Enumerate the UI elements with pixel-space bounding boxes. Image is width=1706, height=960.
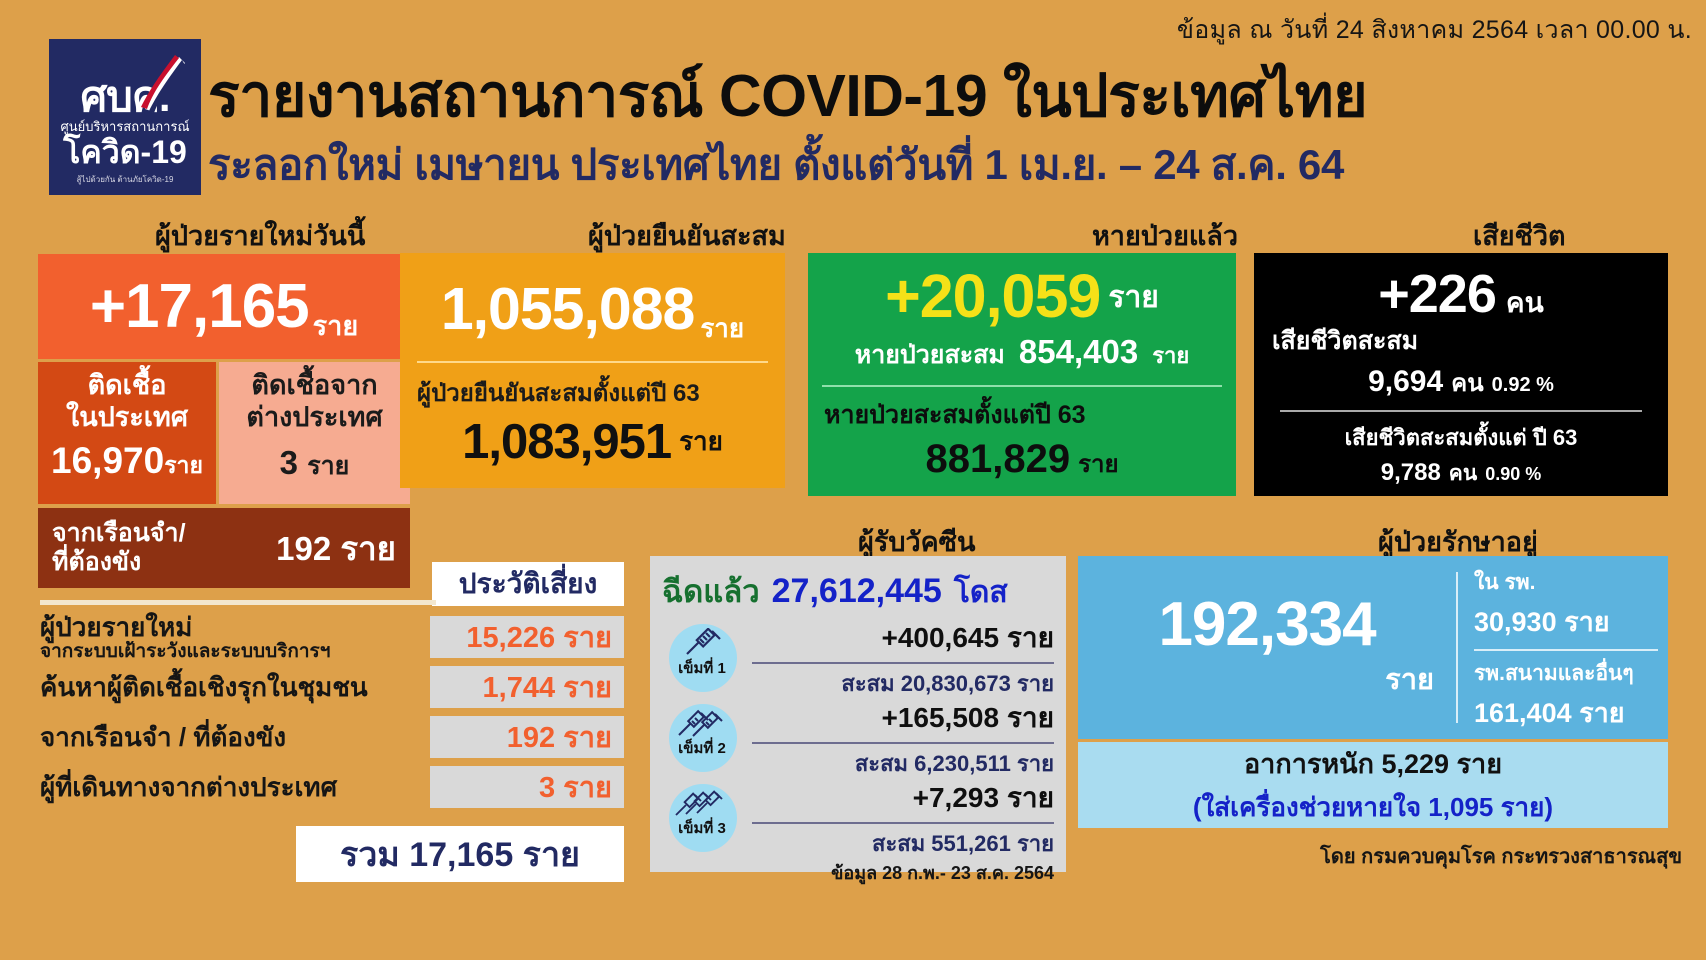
risk-row-value-pill: 3 ราย: [430, 766, 624, 808]
data-timestamp: ข้อมูล ณ วันที่ 24 สิงหาคม 2564 เวลา 00.…: [1177, 10, 1692, 50]
vaccine-dose-new: +7,293 ราย: [752, 776, 1054, 820]
vaccine-dose-cum: สะสม 551,261 ราย: [752, 826, 1054, 861]
deaths-card: +226 คน เสียชีวิตสะสม 9,694 คน 0.92 % เส…: [1254, 253, 1668, 496]
risk-row-value-pill: 1,744 ราย: [430, 666, 624, 708]
recovered-since63-label: หายป่วยสะสมตั้งแต่ปี 63: [824, 395, 1236, 435]
deaths-since63-label: เสียชีวิตสะสมตั้งแต่ ปี 63: [1254, 420, 1668, 455]
recovered-since63-unit: ราย: [1078, 444, 1118, 483]
cumulative-since63-value: 1,083,951: [462, 414, 671, 470]
syringe-2-icon: เข็มที่ 2: [662, 702, 742, 774]
recovered-value: +20,059: [885, 261, 1100, 331]
severe-cases-label: อาการหนัก 5,229 ราย: [1244, 742, 1502, 785]
prison-label-1: จากเรือนจำ/: [52, 519, 186, 548]
domestic-unit: ราย: [164, 452, 203, 478]
heading-cumulative: ผู้ป่วยยืนยันสะสม: [588, 214, 786, 257]
page-title: รายงานสถานการณ์ COVID-19 ในประเทศไทย: [208, 48, 1367, 142]
risk-history-total: รวม 17,165 ราย: [296, 826, 624, 882]
syringe-3-icon: เข็มที่ 3: [662, 782, 742, 854]
risk-row-label: ผู้ที่เดินทางจากต่างประเทศ: [40, 772, 337, 802]
recovered-cum-value: 854,403: [1019, 333, 1138, 371]
imported-unit: ราย: [307, 452, 349, 480]
prison-value: 192: [276, 530, 331, 567]
risk-row-sublabel: จากระบบเฝ้าระวังและระบบบริการฯ: [40, 642, 330, 661]
domestic-cases-box: ติดเชื้อ ในประเทศ 16,970ราย: [38, 362, 216, 504]
list-item: จากเรือนจำ / ที่ต้องขัง 192 ราย: [40, 712, 624, 762]
prison-cases-box: จากเรือนจำ/ ที่ต้องขัง 192 ราย: [38, 508, 410, 588]
vaccine-dose-new: +400,645 ราย: [752, 616, 1054, 660]
domestic-label-1: ติดเชื้อ: [38, 370, 216, 402]
field-hospital-value: 161,404 ราย: [1474, 691, 1668, 734]
risk-row-value: 1,744 ราย: [483, 664, 612, 710]
risk-row-label: ผู้ป่วยรายใหม่: [40, 612, 192, 642]
deaths-value: +226: [1378, 263, 1496, 325]
ventilator-label: (ใส่เครื่องช่วยหายใจ 1,095 ราย): [1193, 787, 1553, 828]
divider: [822, 385, 1222, 387]
recovered-card: +20,059 ราย หายป่วยสะสม 854,403 ราย หายป…: [808, 253, 1236, 496]
risk-history-tab-label: ประวัติเสี่ยง: [459, 562, 598, 606]
infographic-page: ข้อมูล ณ วันที่ 24 สิงหาคม 2564 เวลา 00.…: [0, 0, 1706, 960]
prison-label-2: ที่ต้องขัง: [52, 548, 186, 577]
new-cases-unit: ราย: [313, 304, 358, 347]
risk-row-label: จากเรือนจำ / ที่ต้องขัง: [40, 722, 286, 752]
risk-history-tab: ประวัติเสี่ยง: [432, 562, 624, 606]
cumulative-unit: ราย: [700, 308, 744, 349]
divider: [417, 361, 768, 363]
cumulative-cases-card: 1,055,088 ราย ผู้ป่วยยืนยันสะสมตั้งแต่ปี…: [400, 253, 785, 488]
heading-new-cases: ผู้ป่วยรายใหม่วันนี้: [155, 214, 365, 257]
in-hospital-label: ใน รพ.: [1474, 566, 1668, 599]
vaccine-dose-row: เข็มที่ 1 +400,645 ราย สะสม 20,830,673 ร…: [662, 620, 1054, 696]
imported-label-2: ต่างประเทศ: [219, 402, 410, 434]
thai-flag-wave-icon: [139, 53, 185, 113]
heading-recovered: หายป่วยแล้ว: [1092, 214, 1238, 257]
cumulative-since63-unit: ราย: [679, 421, 723, 462]
risk-row-value: 3 ราย: [539, 764, 612, 810]
recovered-cum-label: หายป่วยสะสม: [855, 335, 1005, 375]
in-hospital-value: 30,930 ราย: [1474, 600, 1668, 643]
vaccine-dose-caption: เข็มที่ 1: [678, 656, 726, 680]
imported-value: 3: [280, 444, 298, 481]
list-item: ผู้ป่วยรายใหม่จากระบบเฝ้าระวังและระบบบริ…: [40, 612, 624, 662]
risk-row-value: 15,226 ราย: [466, 614, 612, 660]
domestic-value: 16,970: [51, 440, 164, 481]
heading-deaths: เสียชีวิต: [1473, 214, 1566, 257]
vaccine-dose-caption: เข็มที่ 2: [678, 736, 726, 760]
deaths-unit: คน: [1506, 281, 1544, 325]
deaths-cum-pct: 0.92 %: [1492, 374, 1554, 397]
vaccine-card: ฉีดแล้ว 27,612,445 โดส เข็มที่ 1 +400,64…: [650, 556, 1066, 872]
deaths-cum-label: เสียชีวิตสะสม: [1272, 321, 1668, 361]
syringe-1-icon: เข็มที่ 1: [662, 622, 742, 694]
treating-value: 192,334: [1158, 594, 1375, 656]
field-hospital-label: รพ.สนามและอื่นๆ: [1474, 657, 1668, 690]
list-item: ผู้ที่เดินทางจากต่างประเทศ 3 ราย: [40, 762, 624, 812]
treating-card: 192,334 ราย ใน รพ. 30,930 ราย รพ.สนามและ…: [1078, 556, 1668, 739]
imported-cases-box: ติดเชื้อจาก ต่างประเทศ 3 ราย: [219, 362, 410, 504]
vaccine-injected-label: ฉีดแล้ว: [662, 566, 760, 616]
prison-unit: ราย: [340, 530, 396, 567]
risk-history-rule: [40, 600, 436, 605]
page-subtitle: ระลอกใหม่ เมษายน ประเทศไทย ตั้งแต่วันที่…: [208, 132, 1344, 198]
ccsa-logo: ศบค. ศูนย์บริหารสถานการณ์ โควิด-19 สู้ไป…: [46, 36, 204, 198]
divider: [1280, 410, 1642, 412]
recovered-cum-unit: ราย: [1152, 338, 1189, 373]
vaccine-dose-caption: เข็มที่ 3: [678, 816, 726, 840]
recovered-since63-value: 881,829: [925, 437, 1070, 482]
deaths-cum-unit: คน: [1451, 363, 1483, 402]
logo-slogan: สู้ไปด้วยกัน ต้านภัยโควิด-19: [77, 173, 174, 186]
list-item: ค้นหาผู้ติดเชื้อเชิงรุกในชุมชน 1,744 ราย: [40, 662, 624, 712]
deaths-since63-unit: คน: [1449, 457, 1477, 490]
risk-history-list: ผู้ป่วยรายใหม่จากระบบเฝ้าระวังและระบบบริ…: [40, 612, 624, 812]
deaths-since63-value: 9,788: [1381, 459, 1441, 487]
domestic-label-2: ในประเทศ: [38, 402, 216, 434]
new-cases-card: +17,165 ราย: [38, 254, 410, 359]
imported-label-1: ติดเชื้อจาก: [219, 370, 410, 402]
risk-row-value: 192 ราย: [507, 714, 612, 760]
cumulative-value: 1,055,088: [441, 275, 694, 343]
deaths-since63-pct: 0.90 %: [1485, 464, 1541, 485]
vaccine-dose-row: เข็มที่ 3 +7,293 ราย สะสม 551,261 ราย: [662, 780, 1054, 856]
vaccine-injected-value: 27,612,445: [772, 572, 942, 611]
logo-covid19: โควิด-19: [63, 136, 187, 170]
vaccine-data-note: ข้อมูล 28 ก.พ.- 23 ส.ค. 2564: [662, 858, 1054, 887]
risk-history-total-label: รวม 17,165 ราย: [340, 827, 580, 881]
vaccine-injected-unit: โดส: [954, 569, 1008, 616]
risk-row-value-pill: 15,226 ราย: [430, 616, 624, 658]
treating-unit: ราย: [1385, 656, 1434, 702]
recovered-unit: ราย: [1108, 274, 1159, 321]
vaccine-dose-new: +165,508 ราย: [752, 696, 1054, 740]
cumulative-since63-label: ผู้ป่วยยืนยันสะสมตั้งแต่ปี 63: [417, 373, 782, 412]
new-cases-value: +17,165: [90, 271, 309, 342]
severe-cases-box: อาการหนัก 5,229 ราย (ใส่เครื่องช่วยหายใจ…: [1078, 742, 1668, 828]
risk-row-label: ค้นหาผู้ติดเชื้อเชิงรุกในชุมชน: [40, 672, 368, 702]
risk-row-value-pill: 192 ราย: [430, 716, 624, 758]
deaths-cum-value: 9,694: [1368, 365, 1443, 399]
divider: [1474, 649, 1658, 651]
source-footer: โดย กรมควบคุมโรค กระทรวงสาธารณสุข: [1320, 840, 1682, 872]
vaccine-dose-row: เข็มที่ 2 +165,508 ราย สะสม 6,230,511 รา…: [662, 700, 1054, 776]
